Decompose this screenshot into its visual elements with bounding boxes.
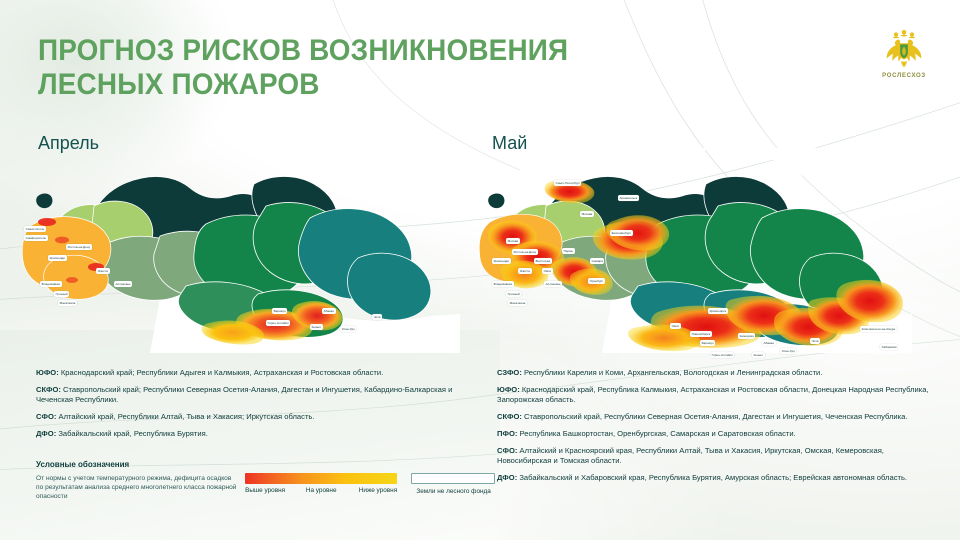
city-label: Чита: [372, 314, 382, 320]
city-label: Екатеринбург: [610, 230, 633, 236]
district-code: ДФО:: [497, 473, 517, 482]
district-regions: Забайкальский край, Республика Бурятия.: [56, 429, 208, 438]
rosleskhoz-logo: РОСЛЕСХОЗ: [872, 28, 936, 90]
district-code: ЮФО:: [497, 385, 520, 394]
city-label: Барнаул: [272, 308, 287, 314]
district-code: ПФО:: [497, 429, 517, 438]
district-entry: ЮФО: Краснодарский край, Республика Калм…: [497, 385, 937, 406]
city-label: Севастополь: [24, 226, 46, 232]
district-list-april: ЮФО: Краснодарский край; Республики Адыг…: [36, 368, 468, 446]
district-regions: Краснодарский край; Республики Адыгея и …: [59, 368, 384, 377]
city-label: Грозный: [506, 291, 521, 297]
city-label: Ростов-на-Дону: [66, 244, 92, 250]
city-label: Владикавказ: [492, 281, 514, 287]
city-label: Москва: [506, 238, 520, 244]
district-entry: СКФО: Ставропольский край; Республики Се…: [36, 385, 468, 406]
city-label: Элиста: [96, 268, 110, 274]
district-regions: Республики Карелия и Коми, Архангельская…: [522, 368, 823, 377]
city-label: Краснодар: [48, 255, 67, 261]
legend-gradient-scale: Выше уровня На уровне Ниже уровня: [245, 473, 397, 495]
legend: Условные обозначения От нормы с учетом т…: [36, 460, 496, 502]
city-label: Санкт-Петербург: [554, 180, 581, 186]
page-title: ПРОГНОЗ РИСКОВ ВОЗНИКНОВЕНИЯ ЛЕСНЫХ ПОЖА…: [38, 34, 633, 102]
city-label: Элиста: [518, 268, 532, 274]
district-code: СЗФО:: [497, 368, 522, 377]
city-label: Красноярск: [708, 308, 728, 314]
city-label: Барнаул: [700, 340, 715, 346]
district-entry: ПФО: Республика Башкортостан, Оренбургск…: [497, 429, 937, 439]
city-label: Новосибирск: [690, 331, 712, 337]
city-label: Волгоград: [534, 258, 552, 264]
legend-nonforest: Земли не лесного фонда: [411, 473, 496, 496]
district-entry: СКФО: Ставропольский край, Республики Се…: [497, 412, 937, 422]
legend-label-normal: На уровне: [299, 487, 343, 495]
district-list-may: СЗФО: Республики Карелия и Коми, Арханге…: [497, 368, 937, 490]
district-regions: Ставропольский край, Республики Северная…: [522, 412, 908, 421]
city-label: Улан-Удэ: [340, 326, 356, 332]
legend-label-high: Выше уровня: [245, 487, 289, 495]
city-label: Грозный: [54, 291, 69, 297]
map-may: Санкт-ПетербургАрхангельскМоскваЕкатерин…: [462, 148, 912, 353]
city-label: Абакан: [762, 340, 776, 346]
district-code: СФО:: [36, 412, 56, 421]
district-regions: Республика Башкортостан, Оренбургская, С…: [517, 429, 795, 438]
city-label: Кемерово: [738, 333, 755, 339]
city-label: Симферополь: [24, 235, 48, 241]
district-regions: Забайкальский и Хабаровский края, Респуб…: [517, 473, 907, 482]
district-entry: СЗФО: Республики Карелия и Коми, Арханге…: [497, 368, 937, 378]
district-regions: Алтайский край, Республики Алтай, Тыва и…: [56, 412, 314, 421]
district-entry: ЮФО: Краснодарский край; Республики Адыг…: [36, 368, 468, 378]
city-label: Астрахань: [114, 281, 132, 287]
district-entry: ДФО: Забайкальский и Хабаровский края, Р…: [497, 473, 937, 483]
city-label: Пермь: [562, 248, 575, 254]
district-code: СКФО:: [36, 385, 61, 394]
city-label: Оренбург: [588, 278, 605, 284]
legend-nonforest-swatch: [411, 473, 495, 484]
legend-nonforest-label: Земли не лесного фонда: [411, 488, 496, 496]
infographic-canvas: ПРОГНОЗ РИСКОВ ВОЗНИКНОВЕНИЯ ЛЕСНЫХ ПОЖА…: [0, 0, 960, 540]
district-entry: ДФО: Забайкальский край, Республика Буря…: [36, 429, 468, 439]
double-headed-eagle-emblem-icon: [882, 28, 926, 72]
district-entry: СФО: Алтайский край, Республики Алтай, Т…: [36, 412, 468, 422]
city-label: Кызыл: [752, 352, 765, 358]
map-april: СевастопольСимферопольРостов-на-ДонуКрас…: [10, 148, 460, 353]
legend-note: От нормы с учетом температурного режима,…: [36, 473, 239, 502]
city-label: Чита: [810, 338, 820, 344]
district-code: ЮФО:: [36, 368, 59, 377]
city-label: Горно-Алтайск: [266, 320, 290, 326]
district-code: ДФО:: [36, 429, 56, 438]
legend-gradient-bar: [245, 473, 397, 484]
district-code: СФО:: [497, 446, 517, 455]
city-label: Улан-Удэ: [780, 348, 796, 354]
map-april-svg: [10, 148, 460, 353]
city-label: Махачкала: [58, 300, 77, 306]
district-regions: Ставропольский край; Республики Северная…: [36, 385, 452, 404]
district-regions: Алтайский и Красноярский края, Республик…: [497, 446, 884, 465]
city-label: Горно-Алтайск: [710, 352, 734, 358]
city-label: Хабаровск: [880, 344, 898, 350]
city-label: Архангельск: [618, 195, 639, 201]
district-regions: Краснодарский край, Республика Калмыкия,…: [497, 385, 929, 404]
city-label: Омск: [670, 323, 681, 329]
city-label: Ростов-на-Дону: [512, 249, 538, 255]
district-entry: СФО: Алтайский и Красноярский края, Респ…: [497, 446, 937, 467]
legend-title: Условные обозначения: [36, 460, 496, 469]
city-label: Москва: [580, 211, 594, 217]
city-label: Самара: [590, 258, 604, 264]
city-label: Комсомольск-на-Амуре: [860, 326, 897, 332]
city-label: Краснодар: [492, 258, 511, 264]
city-label: Махачкала: [508, 300, 527, 306]
district-code: СКФО:: [497, 412, 522, 421]
city-label: Абакан: [322, 308, 336, 314]
legend-label-low: Ниже уровня: [353, 487, 397, 495]
logo-wordmark: РОСЛЕСХОЗ: [872, 73, 936, 79]
city-label: Омск: [542, 268, 553, 274]
city-label: Кызыл: [310, 324, 323, 330]
city-label: Астрахань: [544, 281, 562, 287]
city-label: Владикавказ: [40, 281, 62, 287]
